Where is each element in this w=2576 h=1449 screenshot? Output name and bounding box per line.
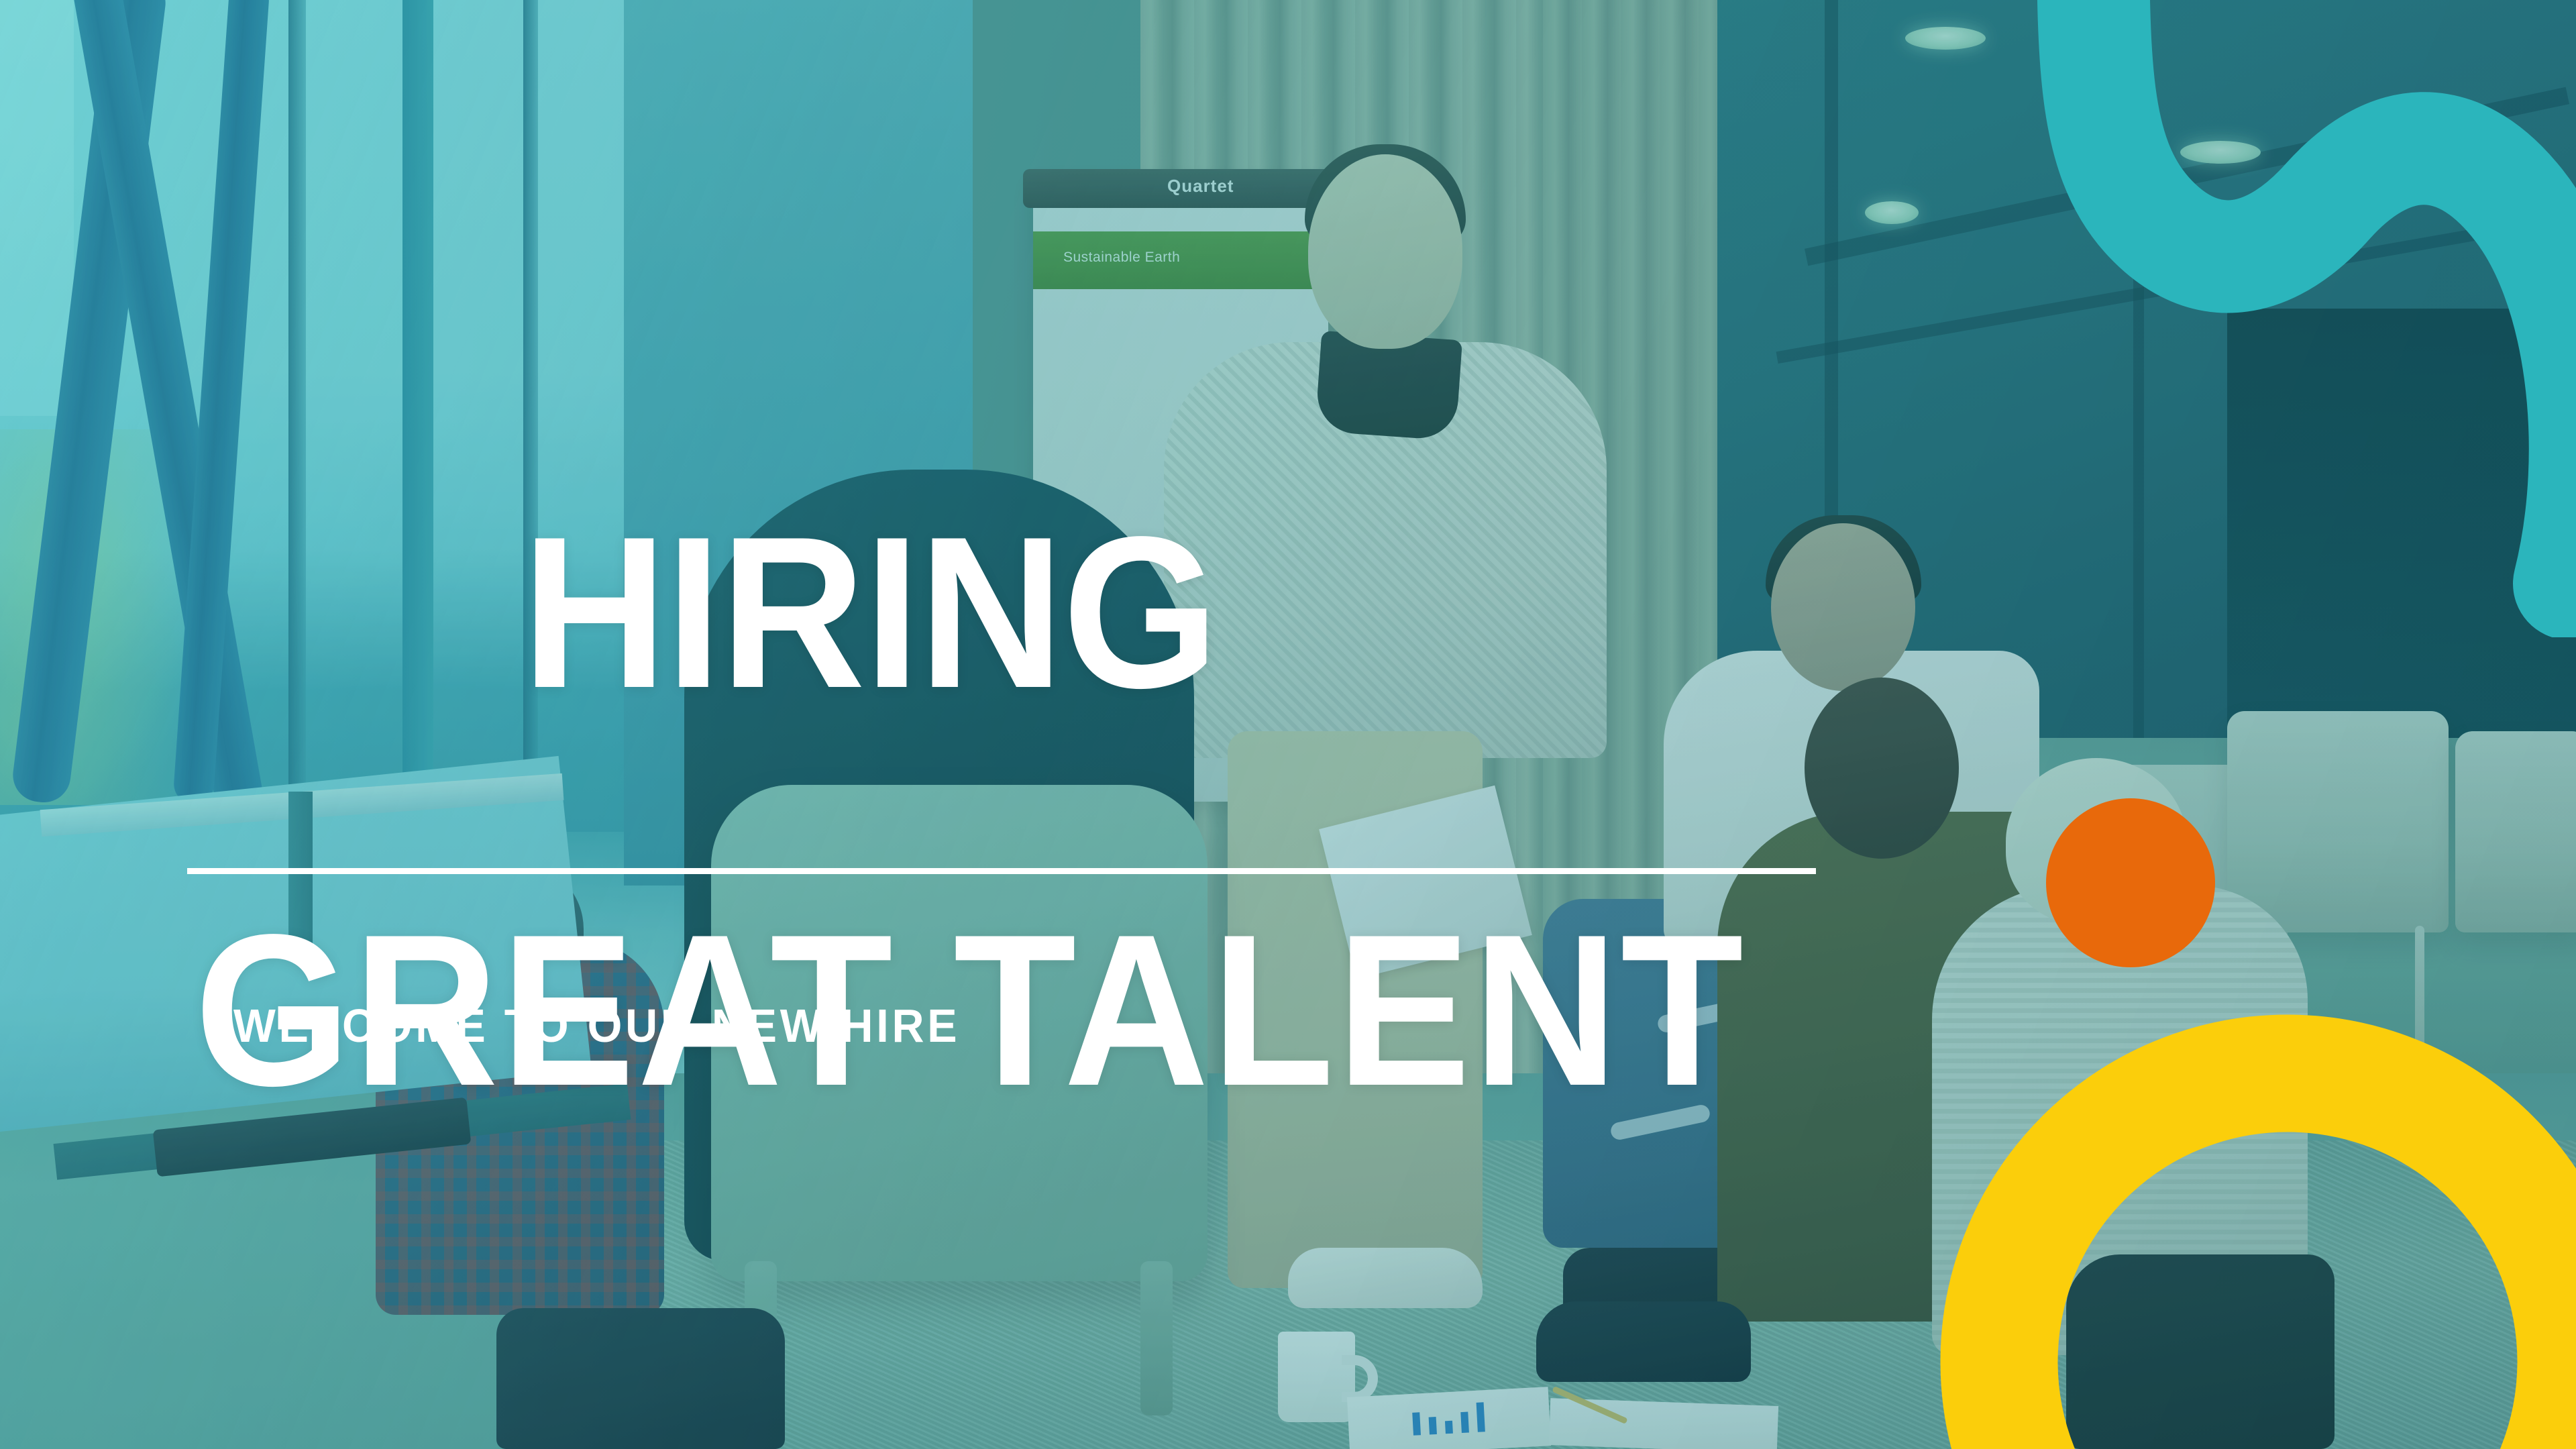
headline-line-1: HIRING bbox=[522, 492, 1218, 733]
hiring-banner: Quartet Sustainable Earth bbox=[0, 0, 2576, 1449]
divider-rule bbox=[187, 868, 1816, 874]
subtitle-text: WELCOME TO OUR NEW HIRE bbox=[233, 999, 960, 1053]
banner-content: HIRING GREAT TALENT WELCOME TO OUR NEW H… bbox=[0, 0, 2576, 1449]
page-title: HIRING GREAT TALENT bbox=[195, 315, 1746, 1449]
